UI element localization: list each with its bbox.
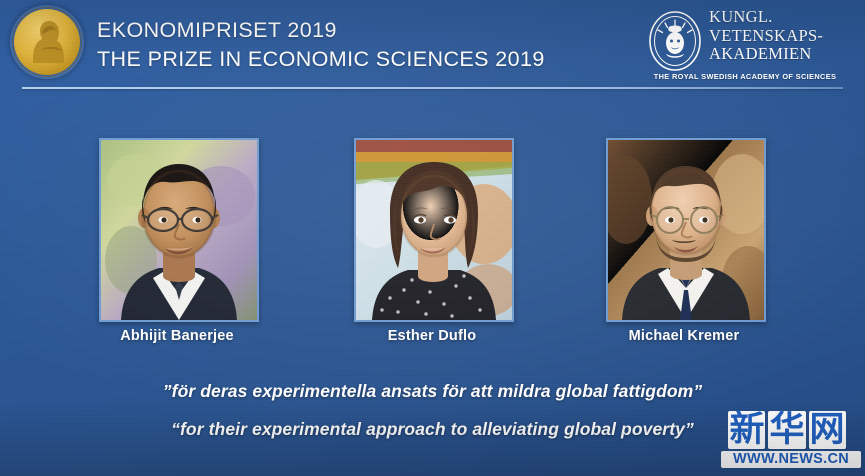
xinhua-url: WWW.NEWS.CN — [721, 451, 861, 468]
academy-logo: KUNGL. VETENSKAPS- AKADEMIEN THE ROYAL S… — [647, 8, 843, 86]
portrait-frame-2 — [354, 138, 514, 322]
nobel-profile-relief-icon — [27, 17, 67, 69]
portrait-michael-kremer — [608, 140, 764, 320]
laureate-card-3: Michael Kremer — [606, 138, 766, 322]
title-english: THE PRIZE IN ECONOMIC SCIENCES 2019 — [97, 45, 545, 74]
nobel-prize-announcement-slide: EKONOMIPRISET 2019 THE PRIZE IN ECONOMIC… — [0, 0, 865, 476]
xinhua-char-wang: 网 — [809, 411, 846, 449]
header: EKONOMIPRISET 2019 THE PRIZE IN ECONOMIC… — [0, 0, 865, 96]
xinhua-watermark: 新 华 网 WWW.NEWS.CN — [713, 410, 861, 470]
academy-name: KUNGL. VETENSKAPS- AKADEMIEN — [709, 8, 823, 64]
academy-name-line1: KUNGL. — [709, 8, 823, 27]
header-divider — [22, 87, 843, 89]
xinhua-char-xin: 新 — [728, 411, 765, 449]
laureate-name-3: Michael Kremer — [606, 328, 762, 344]
xinhua-char-hua: 华 — [768, 411, 805, 449]
citation-swedish: ”för deras experimentella ansats för att… — [0, 381, 865, 402]
academy-name-line3: AKADEMIEN — [709, 45, 823, 64]
royal-academy-seal-icon — [647, 10, 703, 72]
academy-subtitle: THE ROYAL SWEDISH ACADEMY OF SCIENCES — [647, 72, 843, 81]
academy-name-line2: VETENSKAPS- — [709, 27, 823, 46]
nobel-medal-icon — [10, 5, 84, 79]
laureate-name-2: Esther Duflo — [354, 328, 510, 344]
laureate-card-1: Abhijit Banerjee — [99, 138, 259, 322]
portrait-esther-duflo — [356, 140, 512, 320]
portrait-frame-1 — [99, 138, 259, 322]
title-swedish: EKONOMIPRISET 2019 — [97, 16, 545, 45]
xinhua-logo-characters: 新 华 网 — [713, 410, 861, 450]
laureate-name-1: Abhijit Banerjee — [99, 328, 255, 344]
laureate-card-2: Esther Duflo — [354, 138, 514, 322]
portrait-abhijit-banerjee — [101, 140, 257, 320]
prize-title: EKONOMIPRISET 2019 THE PRIZE IN ECONOMIC… — [97, 16, 545, 74]
portrait-frame-3 — [606, 138, 766, 322]
